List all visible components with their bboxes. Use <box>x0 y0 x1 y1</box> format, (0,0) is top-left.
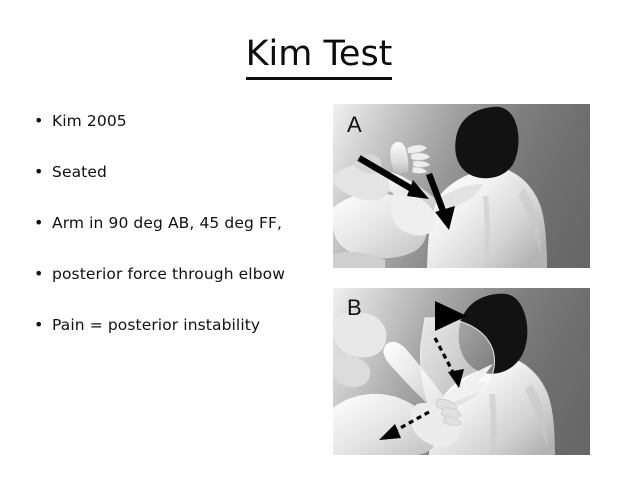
list-item-label: Arm in 90 deg AB, 45 deg FF, <box>52 212 282 234</box>
patient-hand-fingers <box>407 145 430 174</box>
figure-a-label: A <box>347 114 362 136</box>
figure-panel-a: A <box>333 104 590 268</box>
list-item: • Seated <box>30 161 330 212</box>
examiner-elbow-b <box>333 353 370 387</box>
list-item: • Arm in 90 deg AB, 45 deg FF, <box>30 212 330 263</box>
list-item-label: Seated <box>52 161 107 183</box>
patient-hair <box>455 107 518 179</box>
bullet-marker-icon: • <box>30 314 52 336</box>
figure-a-illustration <box>333 104 590 268</box>
bullet-marker-icon: • <box>30 212 52 234</box>
list-item-label: posterior force through elbow <box>52 263 285 285</box>
bullet-marker-icon: • <box>30 161 52 183</box>
list-item: • Kim 2005 <box>30 110 330 161</box>
list-item: • Pain = posterior instability <box>30 314 330 365</box>
figure-b-label: B <box>347 297 362 319</box>
bullet-marker-icon: • <box>30 110 52 132</box>
bullet-marker-icon: • <box>30 263 52 285</box>
slide-canvas: Kim Test • Kim 2005 • Seated • Arm in 90… <box>0 0 638 479</box>
figure-panel-b: B <box>333 288 590 455</box>
page-title: Kim Test <box>0 33 638 80</box>
figure-b-illustration <box>333 288 590 455</box>
bullet-list: • Kim 2005 • Seated • Arm in 90 deg AB, … <box>30 110 330 365</box>
list-item-label: Pain = posterior instability <box>52 314 260 336</box>
patient-forearm <box>390 142 408 174</box>
page-title-text: Kim Test <box>246 33 393 80</box>
list-item: • posterior force through elbow <box>30 263 330 314</box>
list-item-label: Kim 2005 <box>52 110 127 132</box>
